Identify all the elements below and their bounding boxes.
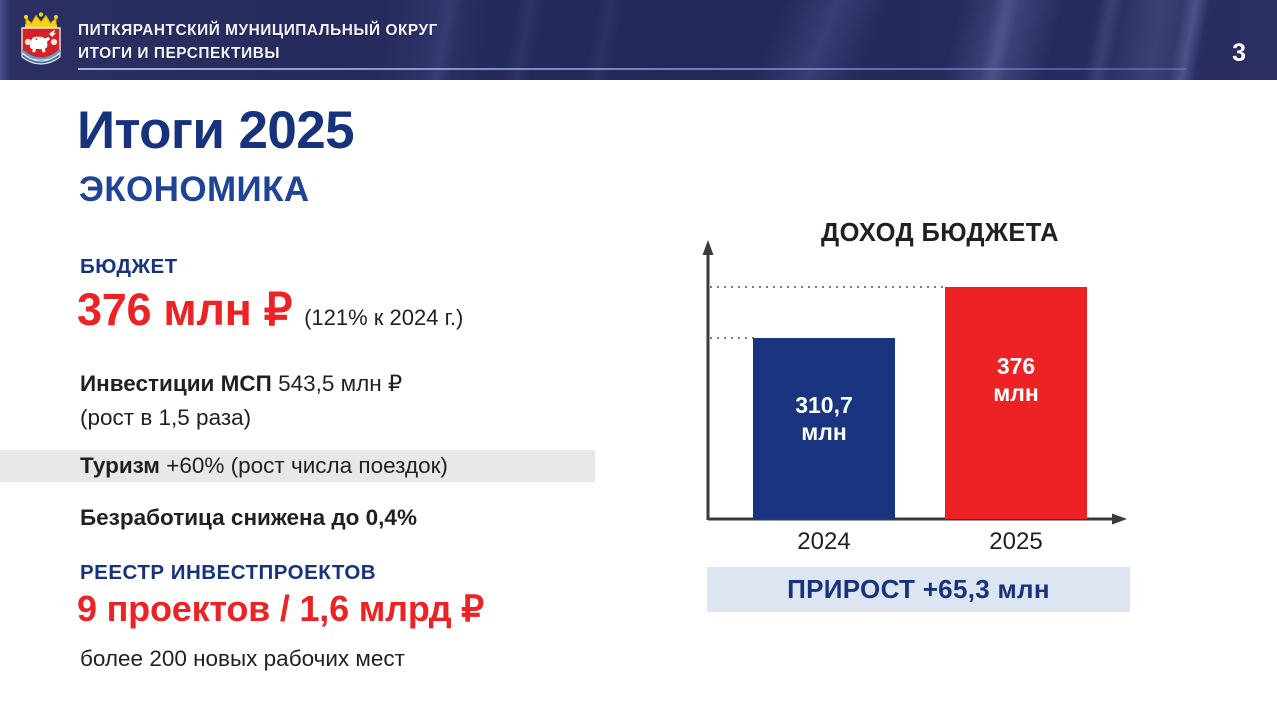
fact-tourism: Туризм +60% (рост числа поездок) bbox=[80, 453, 448, 479]
growth-banner: ПРИРОСТ +65,3 млн bbox=[707, 567, 1130, 612]
header-title-block: ПИТКЯРАНТСКИЙ МУНИЦИПАЛЬНЫЙ ОКРУГ ИТОГИ … bbox=[78, 19, 438, 65]
page-number: 3 bbox=[1232, 41, 1246, 66]
fact-investments: Инвестиции МСП 543,5 млн ₽ bbox=[80, 371, 402, 397]
fact-investments-label: Инвестиции МСП bbox=[80, 371, 272, 396]
facts-column: БЮДЖЕТ 376 млн ₽(121% к 2024 г.) Инвести… bbox=[0, 80, 660, 722]
bar-label-2025-value: 376 bbox=[945, 353, 1087, 380]
budget-value-row: 376 млн ₽(121% к 2024 г.) bbox=[77, 283, 463, 336]
fact-investments-value: 543,5 млн ₽ bbox=[278, 371, 402, 396]
fact-tourism-value: +60% (рост числа поездок) bbox=[166, 453, 448, 478]
budget-income-chart: ДОХОД БЮДЖЕТА 310,7 млн 376 млн 2024 202… bbox=[660, 80, 1277, 722]
slide-header: ПИТКЯРАНТСКИЙ МУНИЦИПАЛЬНЫЙ ОКРУГ ИТОГИ … bbox=[0, 0, 1277, 80]
x-tick-2024: 2024 bbox=[753, 528, 895, 556]
bar-label-2025: 376 млн bbox=[945, 353, 1087, 407]
fact-investments-note: (рост в 1,5 раза) bbox=[80, 405, 251, 431]
header-title-line1: ПИТКЯРАНТСКИЙ МУНИЦИПАЛЬНЫЙ ОКРУГ bbox=[78, 19, 438, 42]
x-tick-2025: 2025 bbox=[945, 528, 1087, 556]
coat-of-arms-icon bbox=[13, 9, 69, 71]
bar-label-2024: 310,7 млн bbox=[753, 392, 895, 446]
header-left-accent bbox=[0, 0, 10, 80]
registry-note: более 200 новых рабочих мест bbox=[80, 646, 405, 672]
slide-body: Итоги 2025 ЭКОНОМИКА БЮДЖЕТ 376 млн ₽(12… bbox=[0, 80, 1277, 722]
fact-unemployment: Безработица снижена до 0,4% bbox=[80, 505, 417, 531]
header-title-line2: ИТОГИ И ПЕРСПЕКТИВЫ bbox=[78, 42, 438, 65]
budget-note: (121% к 2024 г.) bbox=[304, 305, 463, 330]
registry-value: 9 проектов / 1,6 млрд ₽ bbox=[77, 588, 484, 630]
bar-label-2025-unit: млн bbox=[945, 380, 1087, 407]
bar-label-2024-unit: млн bbox=[753, 419, 895, 446]
budget-value: 376 млн ₽ bbox=[77, 284, 292, 335]
budget-label: БЮДЖЕТ bbox=[80, 255, 178, 279]
fact-tourism-label: Туризм bbox=[80, 453, 160, 478]
chart-canvas bbox=[660, 80, 1160, 550]
registry-label: РЕЕСТР ИНВЕСТПРОЕКТОВ bbox=[80, 561, 376, 585]
header-divider bbox=[78, 68, 1186, 70]
bar-label-2024-value: 310,7 bbox=[753, 392, 895, 419]
growth-banner-text: ПРИРОСТ +65,3 млн bbox=[787, 574, 1050, 605]
